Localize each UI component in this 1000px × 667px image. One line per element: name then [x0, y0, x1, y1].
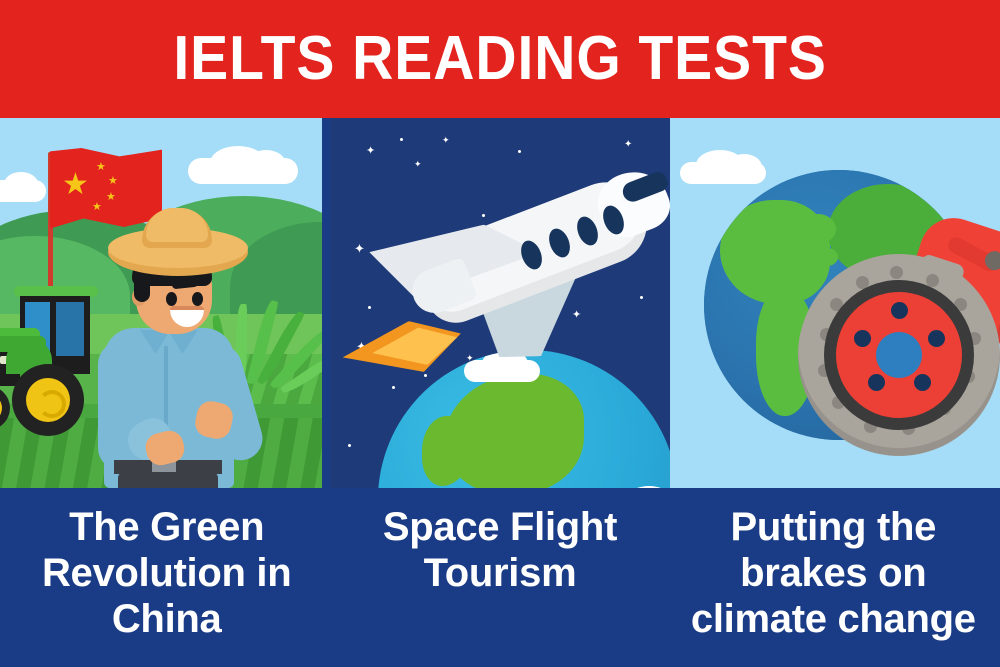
poster-header-bar: IELTS READING TESTS [0, 0, 1000, 118]
page-title: IELTS READING TESTS [173, 28, 826, 90]
star-icon: ✦ [624, 140, 632, 150]
flag-star-icon: ★ [108, 176, 118, 187]
cloud-icon [4, 172, 38, 196]
farmer-figure [88, 206, 288, 488]
cloud-icon [246, 150, 286, 178]
ielts-reading-tests-poster: IELTS READING TESTS ★ ★ ★ ★ [0, 0, 1000, 667]
space-plane-icon [360, 156, 670, 376]
star-icon: ✦ [442, 136, 450, 145]
flag-star-icon: ★ [106, 192, 116, 203]
caption-text: Space Flight Tourism [350, 504, 650, 596]
flag-star-icon: ★ [96, 162, 106, 173]
illustration-strip: ★ ★ ★ ★ ★ [0, 118, 1000, 488]
panel-divider [322, 118, 330, 488]
card-image-brakes-on-climate-change[interactable] [670, 118, 1000, 488]
caption-brakes-on-climate-change[interactable]: Putting the brakes on climate change [667, 488, 1000, 667]
captions-bar: The Green Revolution in China Space Flig… [0, 488, 1000, 667]
caption-text: The Green Revolution in China [27, 504, 307, 642]
brake-disc-icon [798, 254, 1000, 456]
card-image-green-revolution-china[interactable]: ★ ★ ★ ★ ★ [0, 118, 322, 488]
caption-green-revolution-china[interactable]: The Green Revolution in China [0, 488, 333, 667]
card-image-space-flight-tourism[interactable]: ✦ ✦ ✦ ✦ ✦ ✦ ✦ ✦ ✦ [330, 118, 670, 488]
flag-star-icon: ★ [62, 170, 89, 200]
caption-text: Putting the brakes on climate change [683, 504, 983, 642]
caption-space-flight-tourism[interactable]: Space Flight Tourism [333, 488, 666, 667]
